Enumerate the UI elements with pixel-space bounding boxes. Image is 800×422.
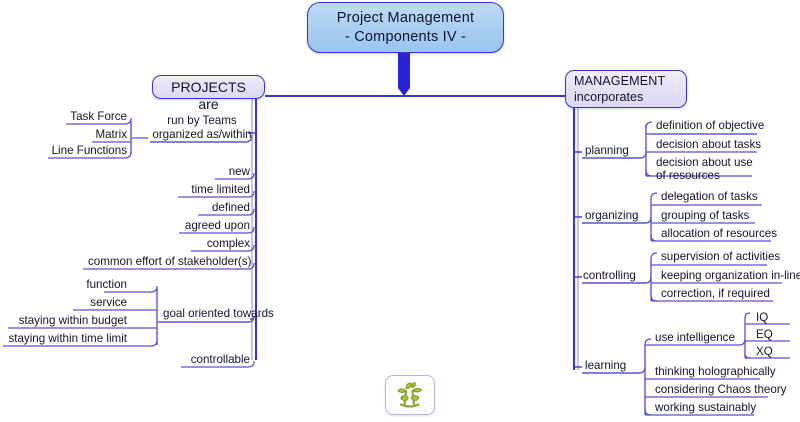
root-title-line1: Project Management: [337, 9, 474, 28]
leaf-decision-about-use-of-resources[interactable]: decision about use of resources: [652, 156, 764, 183]
node-run-by-teams-line2: organized as/within: [152, 128, 251, 141]
node-controlling[interactable]: controlling: [583, 269, 636, 283]
leaf-function[interactable]: function: [57, 278, 131, 293]
leaf-supervision-of-activities[interactable]: supervision of activities: [657, 250, 800, 265]
node-planning[interactable]: planning: [585, 144, 629, 158]
leaf-staying-within-budget[interactable]: staying within budget: [6, 314, 131, 329]
leaf-defined[interactable]: defined: [154, 201, 254, 216]
node-learning[interactable]: learning: [585, 359, 626, 373]
leaf-complex[interactable]: complex: [154, 237, 254, 252]
leaf-definition-of-objective[interactable]: definition of objective: [652, 119, 792, 134]
sprout-icon: [395, 382, 425, 409]
leaf-matrix[interactable]: Matrix: [56, 128, 131, 143]
leaf-service[interactable]: service: [57, 296, 131, 311]
leaf-working-sustainably[interactable]: working sustainably: [651, 401, 791, 416]
leaf-new[interactable]: new: [154, 165, 254, 180]
root-title-line2: - Components IV -: [345, 28, 466, 47]
leaf-keeping-organization-in-line[interactable]: keeping organization in-line: [657, 269, 800, 284]
center-image-node[interactable]: [385, 375, 435, 415]
leaf-considering-chaos-theory[interactable]: considering Chaos theory: [651, 383, 791, 398]
node-goal-oriented-towards[interactable]: goal oriented towards: [163, 307, 274, 321]
mindmap-canvas: Project Management - Components IV - PRO…: [0, 0, 800, 422]
branch-projects[interactable]: PROJECTS are: [152, 75, 265, 99]
leaf-xq[interactable]: XQ: [752, 345, 792, 360]
leaf-line-functions[interactable]: Line Functions: [38, 144, 131, 159]
leaf-task-force[interactable]: Task Force: [56, 110, 131, 125]
leaf-grouping-of-tasks[interactable]: grouping of tasks: [657, 209, 797, 224]
root-trunk: [398, 50, 410, 96]
node-run-by-teams[interactable]: run by Teams organized as/within: [150, 114, 254, 141]
leaf-staying-within-time-limit[interactable]: staying within time limit: [0, 332, 131, 347]
leaf-correction-if-required[interactable]: correction, if required: [657, 287, 800, 302]
leaf-eq[interactable]: EQ: [752, 328, 792, 343]
branch-management-line2: incorporates: [574, 90, 678, 106]
leaf-allocation-of-resources[interactable]: allocation of resources: [657, 227, 797, 242]
leaf-common-effort[interactable]: common effort of stakeholder(s): [84, 255, 254, 270]
branch-projects-label: PROJECTS are: [171, 79, 246, 112]
leaf-agreed-upon[interactable]: agreed upon: [154, 219, 254, 234]
leaf-iq[interactable]: IQ: [752, 311, 792, 326]
leaf-time-limited[interactable]: time limited: [154, 183, 254, 198]
branch-management-line1: MANAGEMENT: [574, 74, 678, 90]
node-run-by-teams-line1: run by Teams: [167, 114, 236, 127]
leaf-delegation-of-tasks[interactable]: delegation of tasks: [657, 190, 797, 205]
leaf-decision-about-tasks[interactable]: decision about tasks: [652, 138, 792, 153]
branch-management[interactable]: MANAGEMENT incorporates: [565, 70, 687, 108]
leaf-controllable[interactable]: controllable: [154, 353, 254, 368]
node-organizing[interactable]: organizing: [585, 209, 639, 223]
leaf-thinking-holographically[interactable]: thinking holographically: [651, 365, 791, 380]
root-node[interactable]: Project Management - Components IV -: [307, 2, 504, 53]
